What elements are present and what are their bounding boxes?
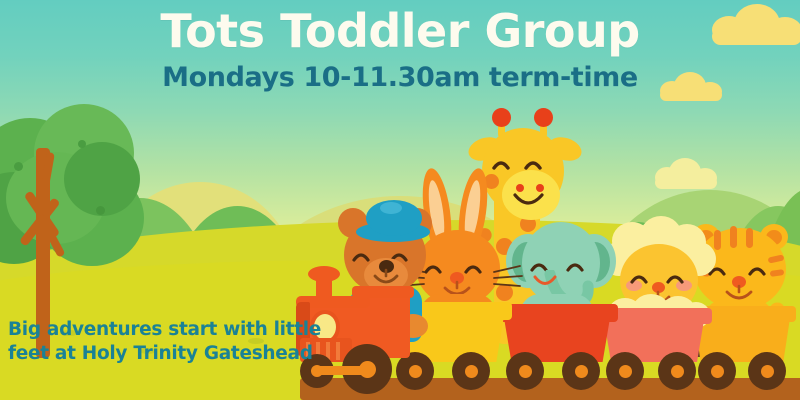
tagline: Big adventures start with little feet at… — [8, 318, 338, 365]
page-title: Tots Toddler Group — [0, 8, 800, 54]
wheel — [562, 352, 600, 390]
wheel — [658, 352, 696, 390]
tagline-line-2: feet at Holy Trinity Gateshead — [8, 342, 338, 366]
tagline-line-1: Big adventures start with little — [8, 318, 338, 342]
wheel — [606, 352, 644, 390]
poster: Tots Toddler Group Mondays 10-11.30am te… — [0, 0, 800, 400]
page-subtitle: Mondays 10-11.30am term-time — [0, 62, 800, 93]
locomotive-chimney — [308, 266, 340, 282]
wheel — [506, 352, 544, 390]
wheel — [452, 352, 490, 390]
wheel — [748, 352, 786, 390]
wheel — [698, 352, 736, 390]
elephant-mouth-icon — [532, 274, 566, 294]
